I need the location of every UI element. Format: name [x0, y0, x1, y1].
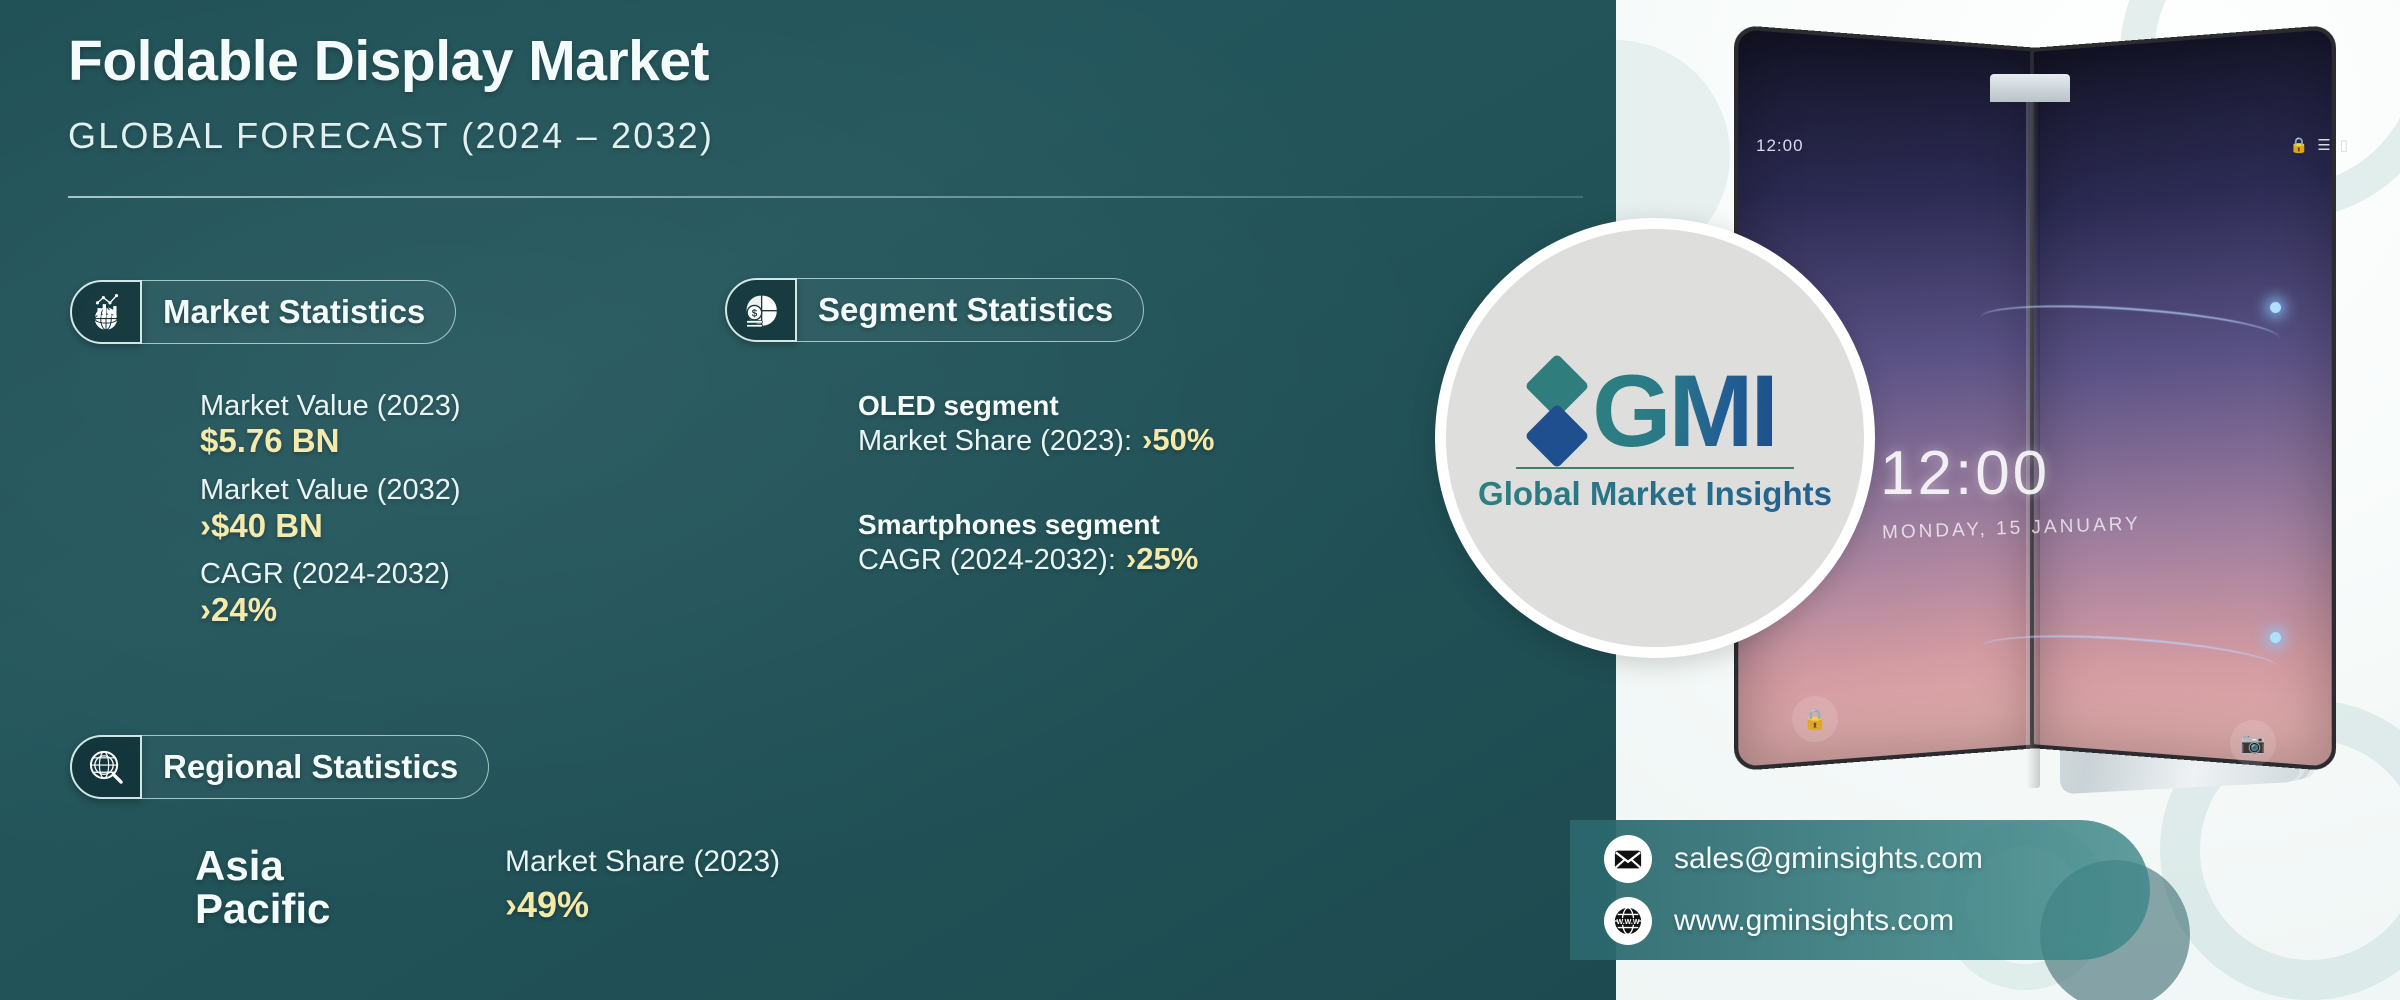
screen-spark — [2270, 632, 2281, 643]
regional-statistics-body: Asia Pacific Market Share (2023) ›49% — [195, 845, 780, 931]
contact-website: www.gminsights.com — [1674, 904, 1954, 938]
logo-diamonds-icon — [1534, 363, 1580, 459]
stat-label: Market Value (2023) — [200, 390, 461, 422]
stat-value: ›24% — [200, 591, 461, 629]
section-label-pill: Regional Statistics — [140, 735, 489, 799]
segment-metric-label: CAGR (2024-2032): — [858, 544, 1116, 576]
region-name-line1: Asia — [195, 845, 445, 888]
pie-chart-dollar-icon: $ — [725, 278, 797, 342]
section-header-segment-statistics[interactable]: $ Segment Statistics — [725, 278, 1144, 342]
phone-clock: 12:00 — [1880, 438, 2050, 509]
segment-metric-row: CAGR (2024-2032): ›25% — [858, 541, 1214, 576]
stat-value: ›$40 BN — [200, 507, 461, 545]
region-name: Asia Pacific — [195, 845, 445, 931]
stat-value: $5.76 BN — [200, 422, 461, 460]
market-statistics-body: Market Value (2023) $5.76 BN Market Valu… — [200, 390, 461, 628]
phone-status-icons: 🔒 ☰ ▯ — [2290, 136, 2348, 154]
section-header-market-statistics[interactable]: Market Statistics — [70, 280, 456, 344]
gmi-logo-badge: GMI Global Market Insights — [1435, 218, 1875, 658]
contact-row-website[interactable]: W.W.W www.gminsights.com — [1604, 897, 2150, 945]
lock-small-icon: 🔒 — [2290, 136, 2309, 154]
content-panel: Foldable Display Market GLOBAL FORECAST … — [0, 0, 1616, 1000]
contact-email: sales@gminsights.com — [1674, 842, 1983, 876]
segment-item: Smartphones segment CAGR (2024-2032): ›2… — [858, 509, 1214, 576]
globe-magnifier-icon — [70, 735, 142, 799]
logo-diamond-blue — [1525, 403, 1590, 468]
header-divider — [68, 196, 1583, 198]
www-globe-icon: W.W.W — [1604, 897, 1652, 945]
screen-spark — [2270, 302, 2281, 313]
stat-item: CAGR (2024-2032) ›24% — [200, 558, 461, 628]
stat-label: CAGR (2024-2032) — [200, 558, 461, 590]
segment-metric-label: Market Share (2023): — [858, 425, 1132, 457]
segment-metric-row: Market Share (2023): ›50% — [858, 422, 1214, 457]
logo-wordmark: GMI — [1592, 363, 1776, 460]
section-title-market-statistics: Market Statistics — [163, 293, 425, 331]
svg-text:$: $ — [752, 309, 758, 320]
segment-name: OLED segment — [858, 390, 1214, 422]
page-subtitle: GLOBAL FORECAST (2024 – 2032) — [68, 115, 714, 157]
page-title: Foldable Display Market — [68, 28, 709, 94]
camera-icon: 📷 — [2230, 720, 2276, 766]
region-name-line2: Pacific — [195, 888, 445, 931]
segment-item: OLED segment Market Share (2023): ›50% — [858, 390, 1214, 457]
section-title-regional-statistics: Regional Statistics — [163, 748, 458, 786]
infographic-canvas: 12:00 🔒 ☰ ▯ 12:00 MONDAY, 15 JANUARY 🔒 📷… — [0, 0, 2400, 1000]
region-metric-value: ›49% — [505, 884, 780, 925]
envelope-icon — [1604, 835, 1652, 883]
contact-bar: sales@gminsights.com W.W.W www.gminsight… — [1570, 820, 2150, 960]
logo-divider — [1516, 467, 1794, 469]
contact-row-email[interactable]: sales@gminsights.com — [1604, 835, 2150, 883]
logo-row: GMI — [1534, 363, 1776, 460]
battery-icon: ▯ — [2340, 136, 2348, 154]
svg-text:W.W.W: W.W.W — [1617, 919, 1640, 926]
region-metric-label: Market Share (2023) — [505, 845, 780, 879]
section-label-pill: Market Statistics — [140, 280, 456, 344]
signal-icon: ☰ — [2317, 136, 2330, 154]
phone-hinge-top — [1990, 74, 2070, 102]
section-label-pill: Segment Statistics — [795, 278, 1144, 342]
section-header-regional-statistics[interactable]: Regional Statistics — [70, 735, 489, 799]
stat-item: Market Value (2023) $5.76 BN — [200, 390, 461, 460]
region-share: Market Share (2023) ›49% — [505, 845, 780, 925]
stat-label: Market Value (2032) — [200, 474, 461, 506]
stat-item: Market Value (2032) ›$40 BN — [200, 474, 461, 544]
lock-icon: 🔒 — [1792, 696, 1838, 742]
segment-statistics-body: OLED segment Market Share (2023): ›50% S… — [858, 390, 1214, 577]
segment-metric-value: ›25% — [1126, 541, 1198, 576]
phone-status-time: 12:00 — [1756, 136, 1804, 156]
logo-tagline: Global Market Insights — [1478, 475, 1832, 513]
segment-metric-value: ›50% — [1142, 422, 1214, 457]
globe-bar-chart-icon — [70, 280, 142, 344]
segment-name: Smartphones segment — [858, 509, 1214, 541]
section-title-segment-statistics: Segment Statistics — [818, 291, 1113, 329]
